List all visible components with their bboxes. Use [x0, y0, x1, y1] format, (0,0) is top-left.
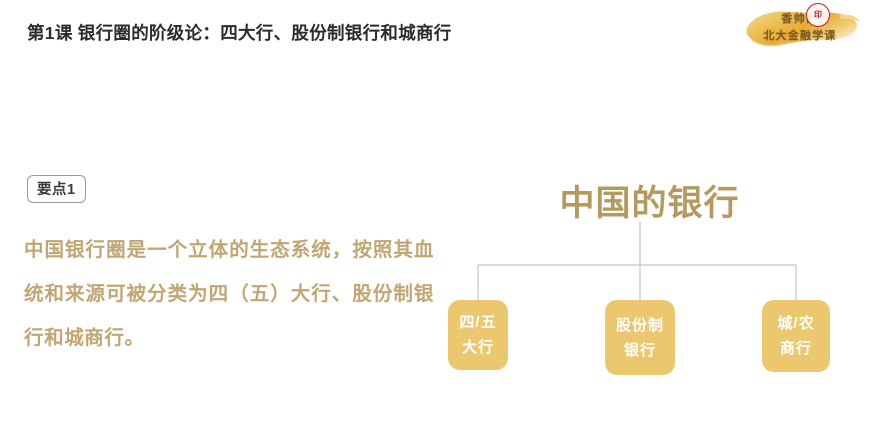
node-label-line-2: 大行: [462, 335, 494, 360]
slide-header: 第1课 银行圈的阶级论：四大行、股份制银行和城商行 香帅的: [0, 0, 869, 64]
brand-line-1: 香帅的: [754, 11, 846, 28]
bank-hierarchy-diagram: 中国的银行 四/五 大行 股份制 银行 城/农 商行: [430, 160, 869, 390]
red-seal-icon: 印: [806, 3, 830, 27]
point-body-text: 中国银行圈是一个立体的生态系统，按照其血统和来源可被分类为四（五）大行、股份制银…: [24, 228, 434, 360]
brand-text: 香帅的 北大金融学课: [754, 11, 846, 51]
brand-line-2: 北大金融学课: [754, 28, 846, 45]
node-big-banks[interactable]: 四/五 大行: [448, 300, 508, 370]
page-title: 第1课 银行圈的阶级论：四大行、股份制银行和城商行: [27, 20, 452, 45]
node-label-line-1: 股份制: [616, 313, 664, 338]
point-badge: 要点1: [27, 175, 86, 203]
node-label-line-2: 商行: [780, 336, 812, 361]
brand-logo: 香帅的 北大金融学课 印: [744, 2, 864, 60]
node-label-line-1: 四/五: [459, 310, 496, 335]
node-city-rural-banks[interactable]: 城/农 商行: [762, 300, 830, 372]
node-label-line-2: 银行: [624, 338, 656, 363]
node-joint-stock-banks[interactable]: 股份制 银行: [605, 300, 675, 375]
node-label-line-1: 城/农: [777, 311, 814, 336]
slide-canvas: 第1课 银行圈的阶级论：四大行、股份制银行和城商行 香帅的: [0, 0, 869, 435]
